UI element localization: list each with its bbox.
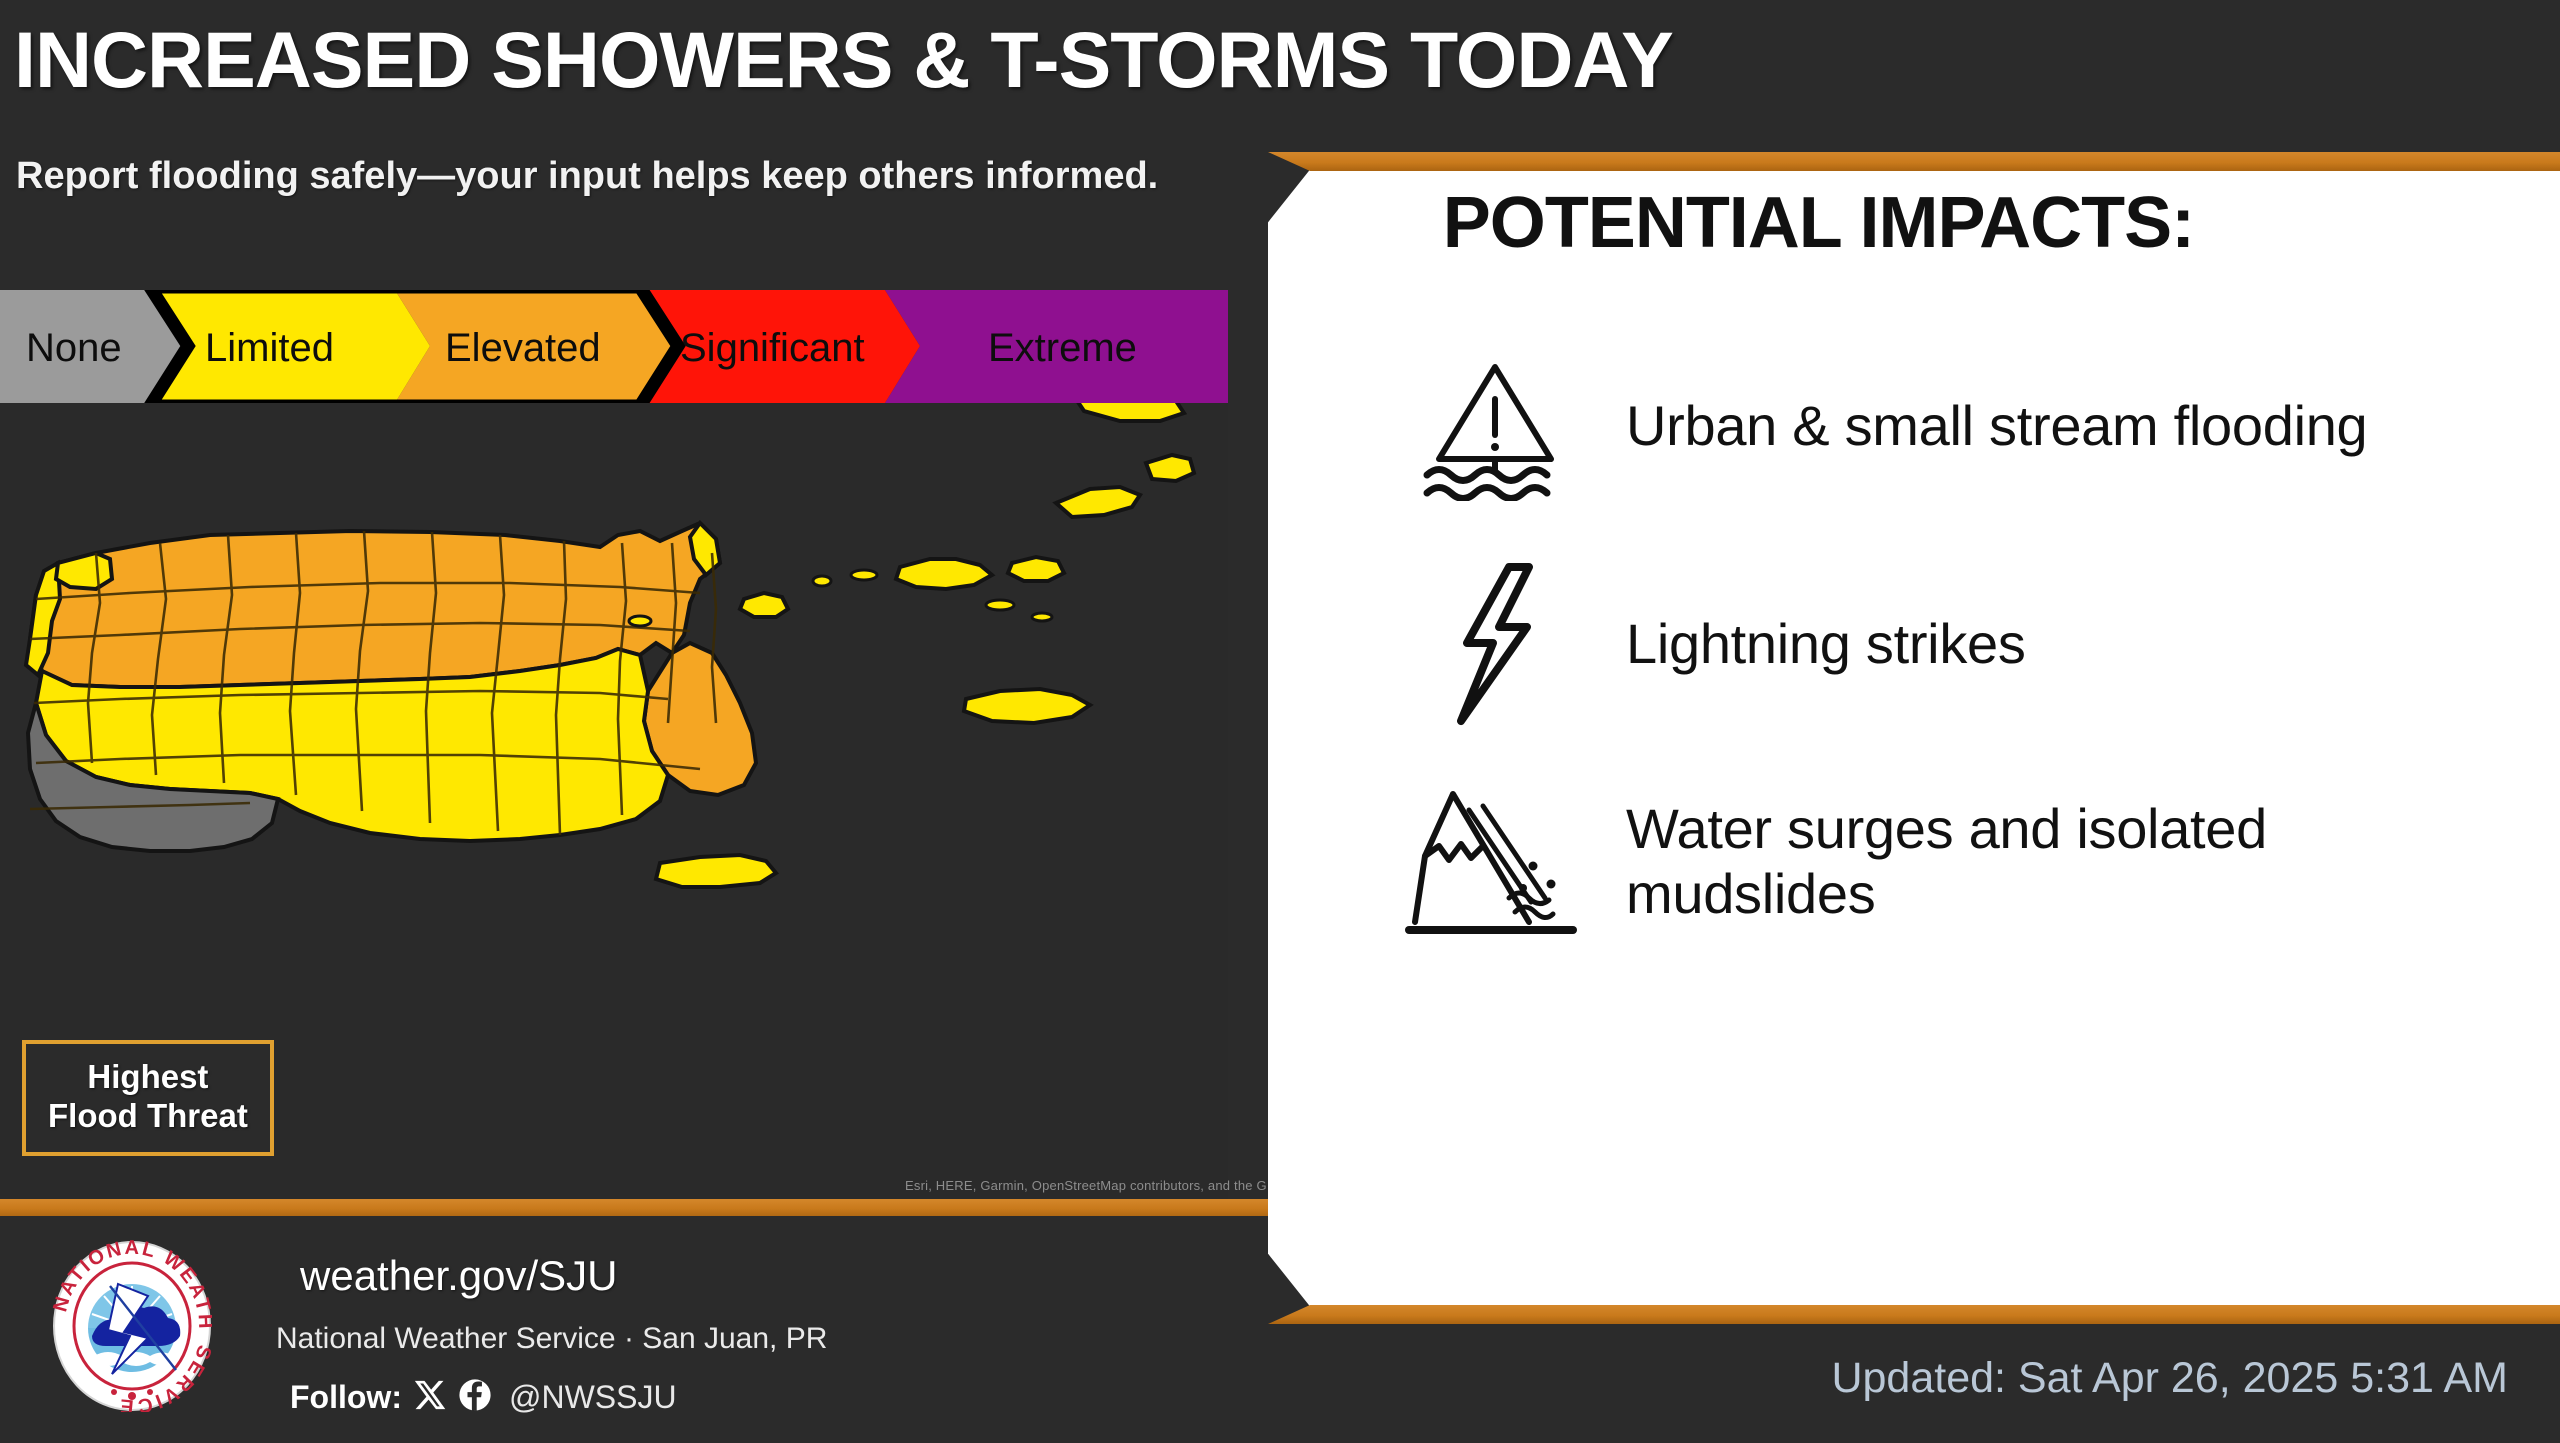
- impact-item-mudslide: Water surges and isolated mudslides: [1400, 753, 2510, 971]
- threat-label-none: None: [26, 326, 122, 370]
- impacts-heading: POTENTIAL IMPACTS:: [1443, 182, 2194, 264]
- impact-item-flooding: Urban & small stream flooding: [1400, 317, 2510, 535]
- threat-label-extreme: Extreme: [988, 326, 1137, 370]
- footer-website-url[interactable]: weather.gov/SJU: [300, 1252, 618, 1300]
- map-island-culebra: [740, 593, 788, 617]
- impact-label-mudslide: Water surges and isolated mudslides: [1590, 797, 2510, 927]
- map-island-st-john: [1008, 557, 1064, 581]
- threat-label-significant: Significant: [680, 326, 865, 370]
- map-island-vieques: [656, 855, 776, 887]
- follow-label: Follow:: [290, 1379, 402, 1416]
- threat-label-limited: Limited: [205, 326, 334, 370]
- x-twitter-icon[interactable]: [413, 1378, 447, 1417]
- impact-label-lightning: Lightning strikes: [1590, 612, 2026, 677]
- map-island-st-thomas: [896, 559, 992, 589]
- potential-impacts-panel: POTENTIAL IMPACTS: Urban & small stream …: [1268, 152, 2560, 1324]
- facebook-icon[interactable]: [458, 1378, 492, 1417]
- updated-timestamp: Updated: Sat Apr 26, 2025 5:31 AM: [1831, 1354, 2508, 1403]
- impacts-bottom-accent-bar: [1268, 1305, 2560, 1324]
- impact-item-lightning: Lightning strikes: [1400, 535, 2510, 753]
- callout-line-1: Highest: [48, 1058, 248, 1097]
- mudslide-icon: [1400, 780, 1590, 945]
- weather-graphic: INCREASED SHOWERS & T-STORMS TODAY Repor…: [0, 0, 2560, 1443]
- impacts-list: Urban & small stream flooding Lightning …: [1400, 317, 2510, 971]
- callout-line-2: Flood Threat: [48, 1097, 248, 1136]
- subtitle-text: Report flooding safely—your input helps …: [16, 155, 1166, 198]
- impact-label-flooding: Urban & small stream flooding: [1590, 394, 2367, 459]
- lightning-bolt-icon: [1400, 559, 1590, 729]
- flood-warning-icon: [1400, 351, 1590, 501]
- footer-office-name: National Weather Service · San Juan, PR: [276, 1322, 827, 1356]
- impacts-top-accent-bar: [1268, 152, 2560, 171]
- page-title: INCREASED SHOWERS & T-STORMS TODAY: [14, 20, 2334, 99]
- highest-flood-threat-callout: Highest Flood Threat: [22, 1040, 274, 1156]
- flood-threat-scale: None Limited Elevated Significant Extrem…: [0, 290, 1228, 403]
- map-island-virgin-gorda: [1146, 455, 1194, 481]
- map-area-puerto-rico: [26, 523, 756, 851]
- footer-social-handle[interactable]: @NWSSJU: [509, 1379, 677, 1416]
- map-bottom-accent-bar: [0, 1199, 1285, 1216]
- footer-follow-row: Follow: @NWSSJU: [290, 1378, 677, 1417]
- threat-label-elevated: Elevated: [445, 326, 601, 370]
- nws-logo: NATIONAL WEATHER SERVICE: [52, 1240, 212, 1412]
- map-island-st-croix: [964, 689, 1090, 723]
